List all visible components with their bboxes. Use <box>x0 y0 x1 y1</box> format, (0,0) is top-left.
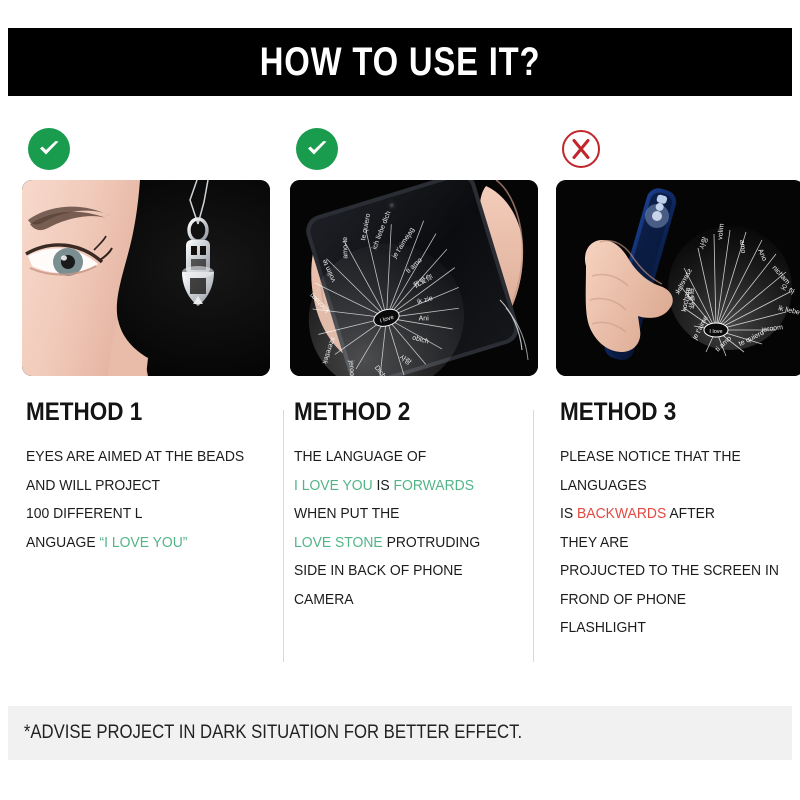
svg-text:jeroom: jeroom <box>347 359 355 376</box>
text-run: PROJUCTED TO THE SCREEN IN <box>560 563 779 579</box>
svg-text:I love: I love <box>709 329 722 335</box>
method-line: LANGUAGES <box>560 472 794 501</box>
highlight-red: BACKWARDS <box>577 506 666 522</box>
text-run: FROND OF PHONE <box>560 592 686 608</box>
text-run: PLEASE NOTICE THAT THE <box>560 449 741 465</box>
text-run: IS <box>373 478 394 494</box>
method-body: PLEASE NOTICE THAT THELANGUAGESIS BACKWA… <box>560 443 800 643</box>
photo-eye-and-pendant <box>22 180 270 376</box>
text-run: PROTRUDING <box>383 535 480 551</box>
text-run: THE LANGUAGE OF <box>294 449 426 465</box>
method-line: EYES ARE AIMED AT THE BEADS <box>26 443 260 472</box>
text-run: 100 DIFFERENT L <box>26 506 143 522</box>
svg-text:Ani: Ani <box>419 315 430 322</box>
status-row-3 <box>556 118 800 180</box>
text-run: IS <box>560 506 577 522</box>
column-divider-1 <box>283 410 284 662</box>
method-text-2: METHOD 2 THE LANGUAGE OFI LOVE YOU IS FO… <box>290 376 538 614</box>
text-run: ANGUAGE <box>26 535 99 551</box>
photo-phone-back-projection: ich liebe dich je t'aime ti amo 我爱你 ik z… <box>290 180 538 376</box>
check-circle-icon <box>28 128 70 170</box>
text-run: CAMERA <box>294 592 354 608</box>
method-line: CAMERA <box>294 586 528 615</box>
method-text-1: METHOD 1 EYES ARE AIMED AT THE BEADSAND … <box>22 376 270 557</box>
method-line: 100 DIFFERENT L <box>26 500 260 529</box>
method-column-1: METHOD 1 EYES ARE AIMED AT THE BEADSAND … <box>22 118 270 678</box>
status-row-1 <box>22 118 270 180</box>
page-title: HOW TO USE IT? <box>260 40 541 85</box>
how-to-use-infographic: HOW TO USE IT? <box>0 0 800 800</box>
footer-note-band: *ADVISE PROJECT IN DARK SITUATION FOR BE… <box>8 706 792 760</box>
method-title: METHOD 2 <box>294 398 514 427</box>
method-column-2: ich liebe dich je t'aime ti amo 我爱你 ik z… <box>290 118 538 678</box>
method-line: WHEN PUT THE <box>294 500 528 529</box>
highlight-green: FORWARDS <box>394 478 474 494</box>
svg-text:amo-te: amo-te <box>342 237 349 259</box>
method-line: PLEASE NOTICE THAT THE <box>560 443 794 472</box>
status-row-2 <box>290 118 538 180</box>
highlight-green: LOVE STONE <box>294 535 383 551</box>
method-line: FROND OF PHONE <box>560 586 794 615</box>
method-line: THE LANGUAGE OF <box>294 443 528 472</box>
method-line: LOVE STONE PROTRUDING <box>294 529 528 558</box>
method-body: THE LANGUAGE OFI LOVE YOU IS FORWARDSWHE… <box>294 443 538 614</box>
footer-note: *ADVISE PROJECT IN DARK SITUATION FOR BE… <box>8 722 522 744</box>
text-run: AND WILL PROJECT <box>26 478 160 494</box>
method-line: THEY ARE <box>560 529 794 558</box>
method-line: I LOVE YOU IS FORWARDS <box>294 472 528 501</box>
text-run: AFTER <box>666 506 715 522</box>
text-run: EYES ARE AIMED AT THE BEADS <box>26 449 244 465</box>
text-run: THEY ARE <box>560 535 629 551</box>
cross-circle-icon <box>562 130 600 168</box>
methods-container: METHOD 1 EYES ARE AIMED AT THE BEADSAND … <box>0 118 800 678</box>
text-run: WHEN PUT THE <box>294 506 399 522</box>
method-column-3: szeretlek 사랑 volim amo Ano nicham 오 하 ik… <box>556 118 800 678</box>
check-circle-icon <box>296 128 338 170</box>
method-title: METHOD 3 <box>560 398 780 427</box>
highlight-green: I LOVE YOU <box>294 478 373 494</box>
highlight-green: “I LOVE YOU” <box>99 535 187 551</box>
text-run: FLASHLIGHT <box>560 620 646 636</box>
header-banner: HOW TO USE IT? <box>8 28 792 96</box>
method-text-3: METHOD 3 PLEASE NOTICE THAT THELANGUAGES… <box>556 376 800 643</box>
method-line: AND WILL PROJECT <box>26 472 260 501</box>
photo-phone-flashlight-projection: szeretlek 사랑 volim amo Ano nicham 오 하 ik… <box>556 180 800 376</box>
method-line: ANGUAGE “I LOVE YOU” <box>26 529 260 558</box>
text-run: SIDE IN BACK OF PHONE <box>294 563 463 579</box>
method-line: PROJUCTED TO THE SCREEN IN <box>560 557 794 586</box>
method-line: SIDE IN BACK OF PHONE <box>294 557 528 586</box>
method-title: METHOD 1 <box>26 398 246 427</box>
method-line: FLASHLIGHT <box>560 614 794 643</box>
method-line: IS BACKWARDS AFTER <box>560 500 794 529</box>
svg-text:amo: amo <box>738 239 746 253</box>
column-divider-2 <box>533 410 534 662</box>
method-body: EYES ARE AIMED AT THE BEADSAND WILL PROJ… <box>26 443 270 557</box>
text-run: LANGUAGES <box>560 478 647 494</box>
